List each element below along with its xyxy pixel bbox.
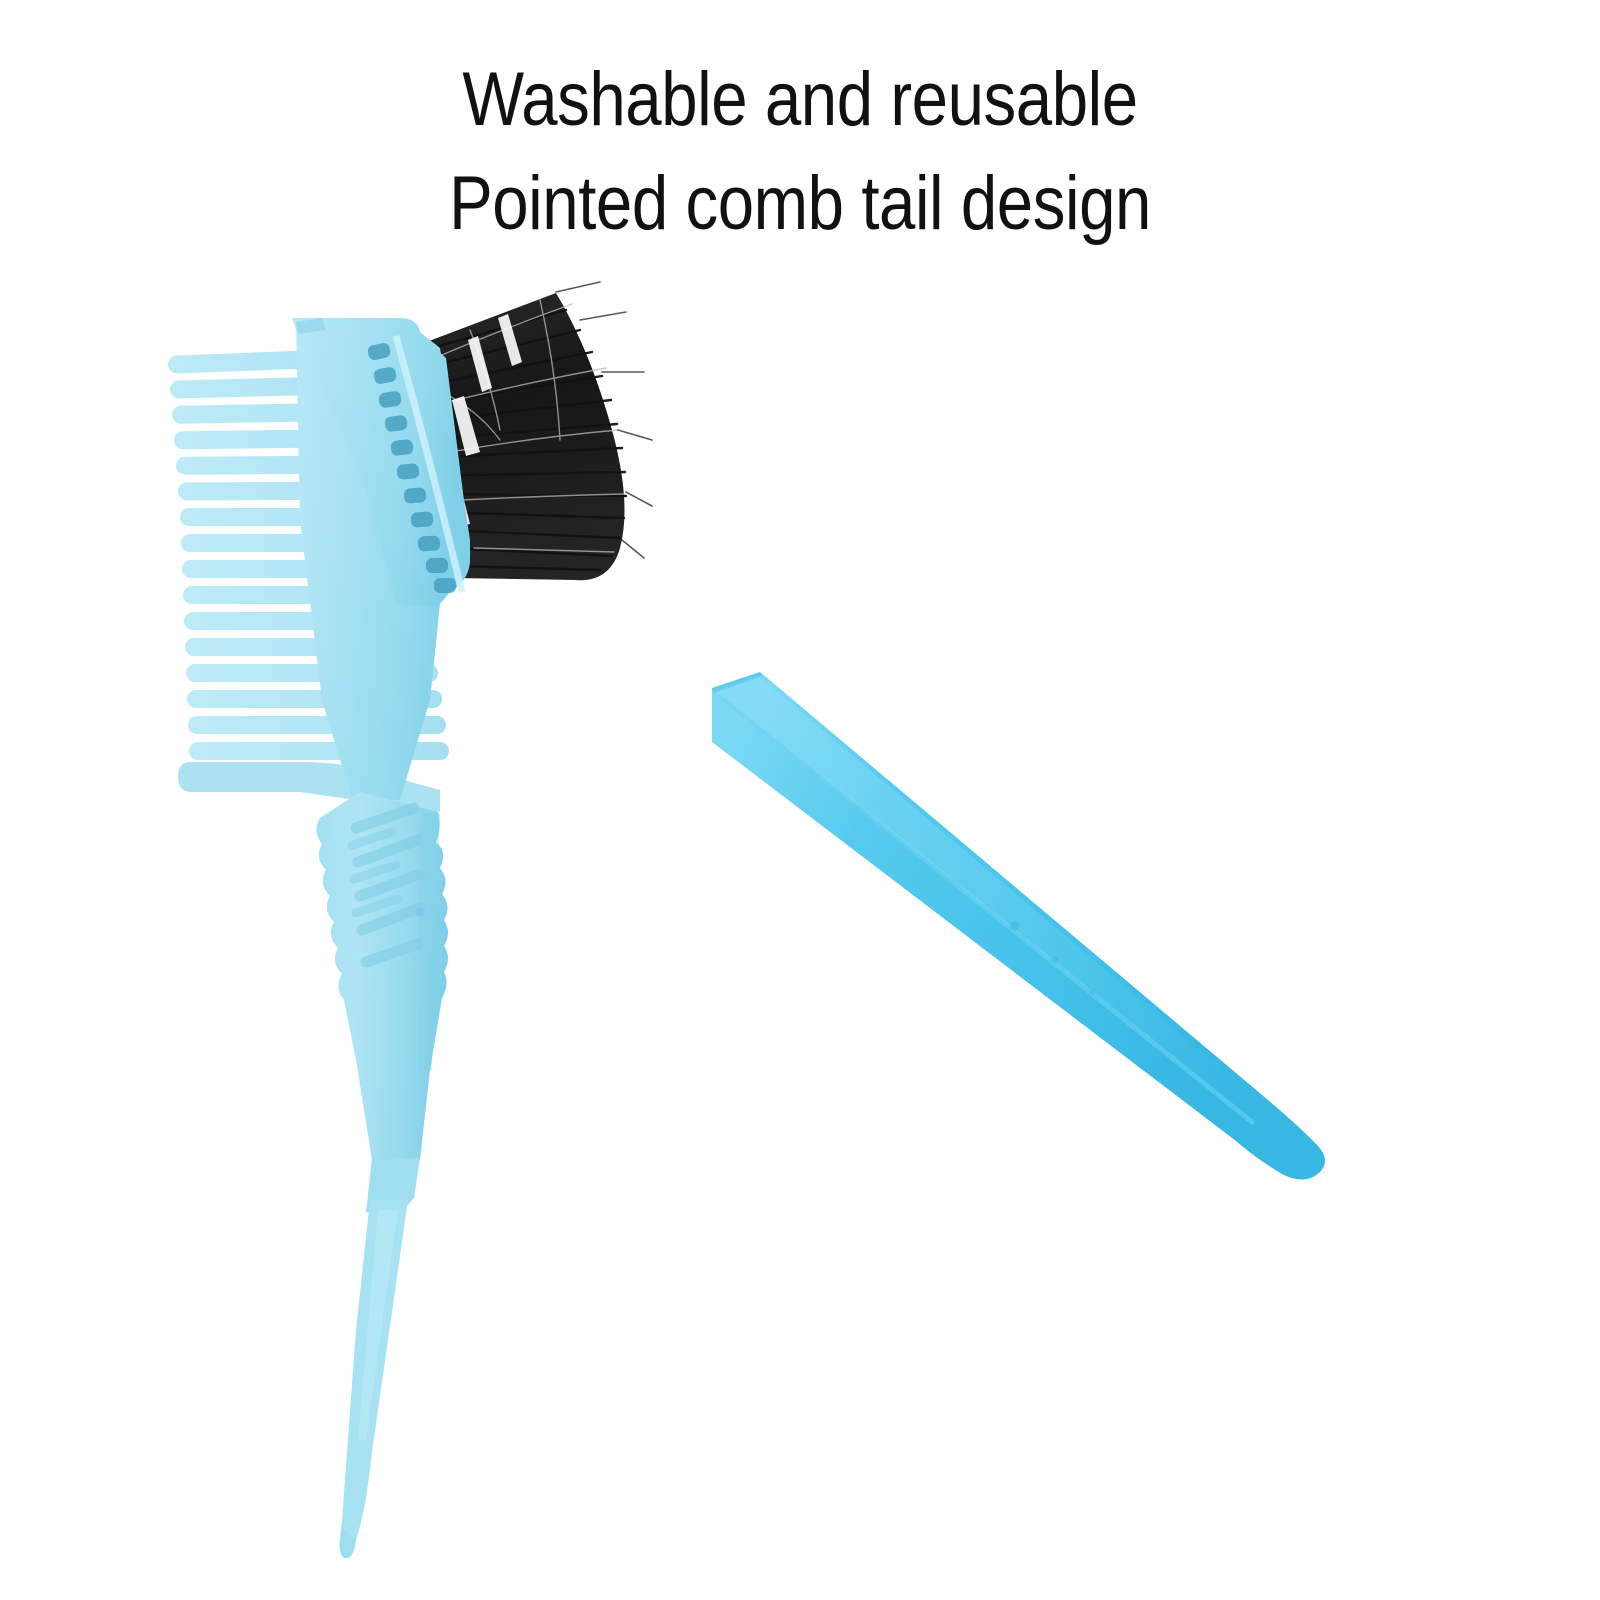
dye-brush-comb — [168, 282, 652, 1558]
product-image-canvas: Washable and reusable Pointed comb tail … — [0, 0, 1600, 1600]
pointed-tail-wand — [712, 672, 1325, 1180]
handle-mould-dot — [415, 907, 425, 917]
product-artwork — [0, 0, 1600, 1600]
